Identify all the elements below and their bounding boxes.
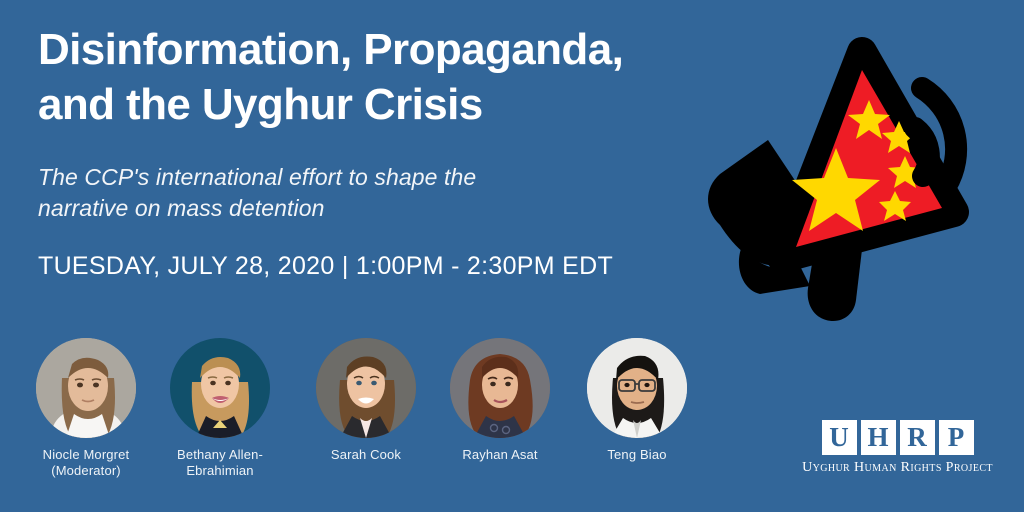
event-poster: Disinformation, Propaganda, and the Uygh…: [0, 0, 1024, 512]
speaker-card-2: Bethany Allen- Ebrahimian: [156, 338, 284, 479]
uhrp-logo-marks: U H R P: [795, 420, 1000, 455]
uhrp-logo-tagline: Uyghur Human Rights Project: [795, 460, 1000, 476]
megaphone-with-chinese-flag-icon: [690, 28, 1024, 328]
uhrp-letter-u: U: [822, 420, 857, 455]
event-subtitle: The CCP's international effort to shape …: [38, 162, 658, 224]
speaker-name: Sarah Cook: [302, 447, 430, 463]
speaker-card-3: Sarah Cook: [302, 338, 430, 463]
speakers-row: Niocle Morgret (Moderator): [22, 338, 722, 498]
event-datetime: TUESDAY, JULY 28, 2020 | 1:00PM - 2:30PM…: [38, 252, 613, 281]
avatar-nicole-morgret: [36, 338, 136, 438]
uhrp-letter-h: H: [861, 420, 896, 455]
speaker-card-1: Niocle Morgret (Moderator): [22, 338, 150, 479]
speaker-name: Rayhan Asat: [436, 447, 564, 463]
speaker-name: Teng Biao: [573, 447, 701, 463]
speaker-card-5: Teng Biao: [573, 338, 701, 463]
uhrp-letter-p: P: [939, 420, 974, 455]
avatar-bethany-allen-ebrahimian: [170, 338, 270, 438]
avatar-teng-biao: [587, 338, 687, 438]
speaker-name: Niocle Morgret (Moderator): [22, 447, 150, 479]
avatar-rayhan-asat: [450, 338, 550, 438]
avatar-sarah-cook: [316, 338, 416, 438]
speaker-card-4: Rayhan Asat: [436, 338, 564, 463]
uhrp-logo: U H R P Uyghur Human Rights Project: [795, 420, 1000, 476]
speaker-name: Bethany Allen- Ebrahimian: [156, 447, 284, 479]
uhrp-letter-r: R: [900, 420, 935, 455]
page-title: Disinformation, Propaganda, and the Uygh…: [38, 22, 738, 132]
